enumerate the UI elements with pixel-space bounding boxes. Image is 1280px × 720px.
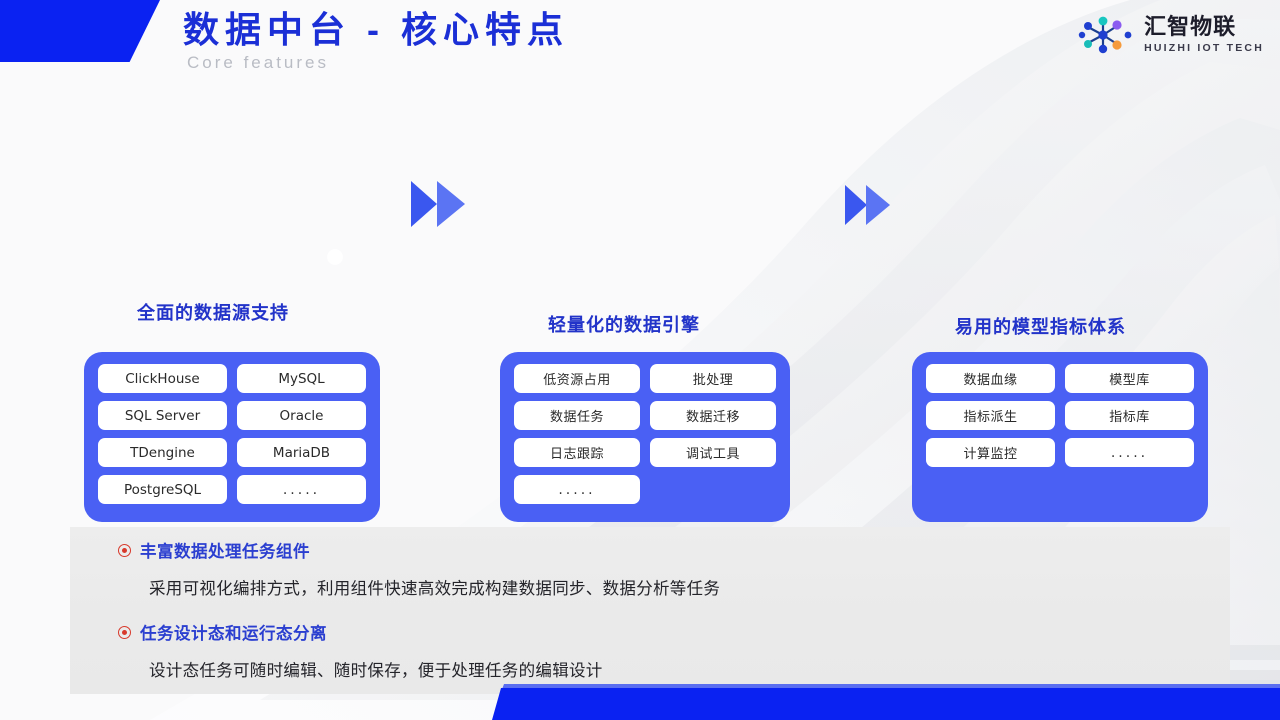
brand-logo: 汇智物联 HUIZHI IOT TECH [1076,14,1264,56]
double-chevron-right-icon [843,183,895,232]
logo-name-cn: 汇智物联 [1144,15,1264,39]
logo-wordmark: 汇智物联 HUIZHI IOT TECH [1144,15,1264,55]
highlight-item-components: 丰富数据处理任务组件 采用可视化编排方式，利用组件快速高效完成构建数据同步、数据… [118,538,720,599]
list-item[interactable]: 指标库 [1065,401,1194,430]
list-item[interactable]: 调试工具 [650,438,776,467]
stage-label-data-modeling: 易用的模型指标体系 [955,313,1126,339]
decorative-dot [327,249,343,265]
slide-canvas: 数据中台 - 核心特点 Core features [0,0,1280,720]
list-item[interactable]: Oracle [237,401,366,430]
page-subtitle: Core features [187,53,569,73]
list-item[interactable]: MySQL [237,364,366,393]
list-item[interactable]: 指标派生 [926,401,1055,430]
highlight-body: 设计态任务可随时编辑、随时保存，便于处理任务的编辑设计 [149,657,603,681]
list-item[interactable]: MariaDB [237,438,366,467]
highlight-body: 采用可视化编排方式，利用组件快速高效完成构建数据同步、数据分析等任务 [149,575,720,599]
list-item-more[interactable]: ..... [1065,438,1194,467]
list-item[interactable]: 数据迁移 [650,401,776,430]
highlight-title: 丰富数据处理任务组件 [140,538,310,562]
stage-circle-data-integration: 数据 集成 [0,158,156,314]
stage-label-data-integration: 轻量化的数据引擎 [548,311,700,337]
list-item[interactable]: PostgreSQL [98,475,227,504]
list-item-more[interactable]: ..... [514,475,640,504]
list-item[interactable]: 数据血缘 [926,364,1055,393]
highlight-heading: 丰富数据处理任务组件 [118,538,720,562]
radio-dot-icon [118,544,131,557]
highlight-heading: 任务设计态和运行态分离 [118,620,603,644]
list-item[interactable]: ClickHouse [98,364,227,393]
list-item[interactable]: 批处理 [650,364,776,393]
list-item[interactable]: 模型库 [1065,364,1194,393]
list-item[interactable]: 低资源占用 [514,364,640,393]
highlight-item-design-runtime: 任务设计态和运行态分离 设计态任务可随时编辑、随时保存，便于处理任务的编辑设计 [118,620,603,681]
stage-circle-line1: 数据 [55,209,101,233]
feature-card-data-engine: 低资源占用 批处理 数据任务 数据迁移 日志跟踪 调试工具 ..... [500,352,790,522]
header: 数据中台 - 核心特点 Core features [183,8,569,73]
list-item[interactable]: SQL Server [98,401,227,430]
radio-dot-icon [118,626,131,639]
stage-label-multi-source: 全面的数据源支持 [137,299,289,325]
footer-accent-shape [492,688,1280,720]
stage-circle-line2: 据源 [56,82,102,106]
double-chevron-right-icon [409,178,471,235]
stage-circle-line2: 集成 [55,239,101,263]
highlight-title: 任务设计态和运行态分离 [140,620,327,644]
molecule-nodes-icon [1076,14,1136,56]
list-item[interactable]: 计算监控 [926,438,1055,467]
page-title: 数据中台 - 核心特点 [183,8,569,52]
feature-card-model-metrics: 数据血缘 模型库 指标派生 指标库 计算监控 ..... [912,352,1208,522]
feature-card-data-sources: ClickHouse MySQL SQL Server Oracle TDeng… [84,352,380,522]
list-item[interactable]: 数据任务 [514,401,640,430]
logo-name-en: HUIZHI IOT TECH [1144,41,1264,55]
list-item[interactable]: 日志跟踪 [514,438,640,467]
list-item[interactable]: TDengine [98,438,227,467]
list-item-more[interactable]: ..... [237,475,366,504]
